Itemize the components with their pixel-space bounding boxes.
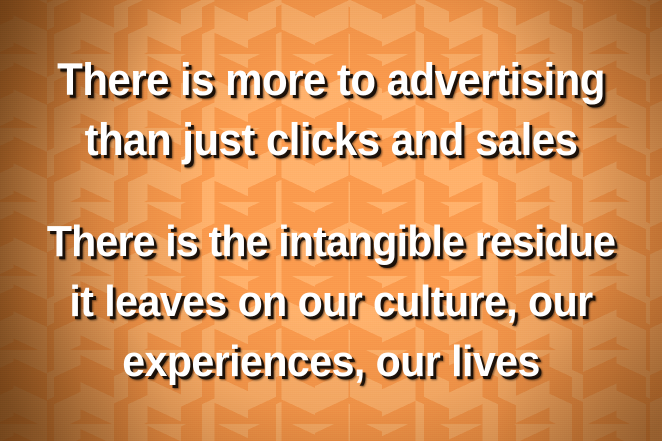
quote-block-two: There is the intangible residue it leave… — [0, 212, 662, 392]
quote-line-3: There is the intangible residue — [22, 212, 641, 272]
quote-line-5: experiences, our lives — [22, 332, 641, 392]
quote-block-one: There is more to advertising than just c… — [0, 50, 662, 170]
quote-line-2: than just clicks and sales — [22, 110, 641, 170]
quote-text-stack: There is more to advertising than just c… — [0, 0, 662, 441]
quote-line-4: it leaves on our culture, our — [22, 272, 641, 332]
quote-poster: There is more to advertising than just c… — [0, 0, 662, 441]
quote-line-1: There is more to advertising — [22, 50, 641, 110]
